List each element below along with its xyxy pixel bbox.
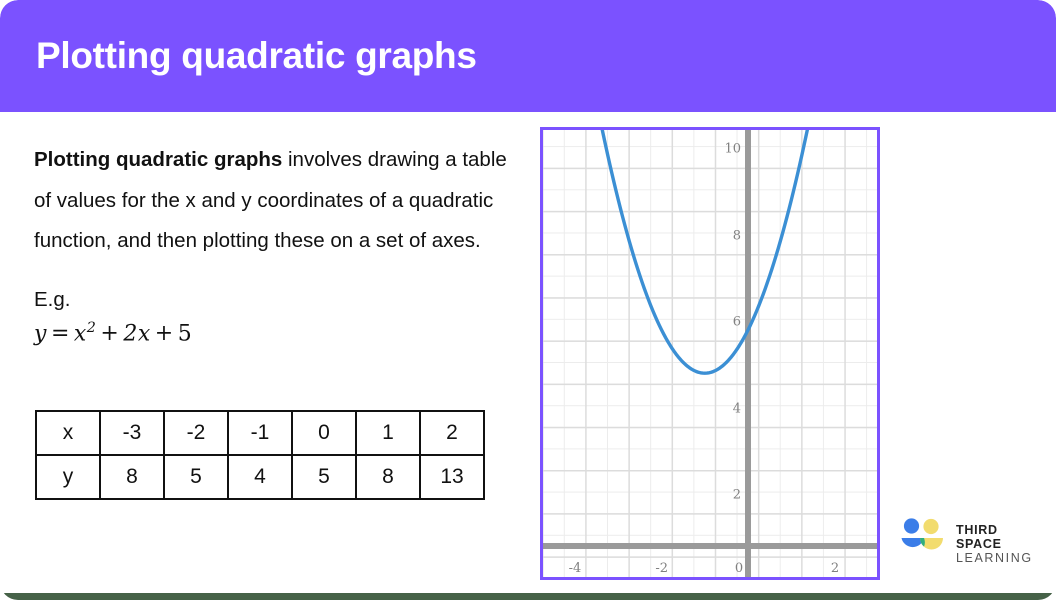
logo-line-2: LEARNING xyxy=(956,551,1033,566)
row-header-y: y xyxy=(36,455,100,499)
equation-term3: 5 xyxy=(178,321,193,346)
equation-term2: 2x xyxy=(123,321,150,346)
logo-mark-icon xyxy=(898,516,948,556)
y-tick-label-10: 10 xyxy=(724,143,741,156)
page-title: Plotting quadratic graphs xyxy=(36,35,477,77)
intro-bold-lead: Plotting quadratic graphs xyxy=(34,148,282,171)
third-space-learning-logo: THIRD SPACE LEARNING xyxy=(898,514,1023,558)
cell-x-5: 2 xyxy=(420,411,484,455)
slide-header: Plotting quadratic graphs xyxy=(0,0,1056,112)
graph-plot-area: 10 8 6 4 2 -4 -2 0 2 xyxy=(543,130,877,577)
x-tick-label-minus2: -2 xyxy=(655,562,668,575)
cell-y-5: 13 xyxy=(420,455,484,499)
cell-x-0: -3 xyxy=(100,411,164,455)
equation-term1-base: x xyxy=(74,321,87,346)
table-of-values: x -3 -2 -1 0 1 2 y 8 5 4 5 8 13 xyxy=(35,410,485,500)
x-tick-label-minus4: -4 xyxy=(569,562,582,575)
equation-plus-1: + xyxy=(96,321,123,346)
logo-line-1: THIRD SPACE xyxy=(956,523,1033,551)
slide-root: Plotting quadratic graphs Plotting quadr… xyxy=(0,0,1056,600)
example-label: E.g. xyxy=(34,286,524,314)
cell-y-2: 4 xyxy=(228,455,292,499)
cell-x-4: 1 xyxy=(356,411,420,455)
x-tick-label-0: 0 xyxy=(735,562,743,575)
x-tick-label-2: 2 xyxy=(831,562,839,575)
table-row: y 8 5 4 5 8 13 xyxy=(36,455,484,499)
y-tick-label-8: 8 xyxy=(733,229,741,242)
equation-plus-2: + xyxy=(151,321,178,346)
equation-term1-exponent: 2 xyxy=(87,320,97,336)
bottom-accent-bar xyxy=(0,593,1056,600)
equation-lhs: y xyxy=(34,321,47,346)
equation-equals: = xyxy=(47,321,74,346)
parabola-curve xyxy=(543,130,877,577)
cell-y-0: 8 xyxy=(100,455,164,499)
row-header-x: x xyxy=(36,411,100,455)
intro-paragraph: Plotting quadratic graphs involves drawi… xyxy=(34,140,526,262)
cell-x-3: 0 xyxy=(292,411,356,455)
cell-x-1: -2 xyxy=(164,411,228,455)
y-tick-label-2: 2 xyxy=(733,488,741,501)
quadratic-equation: y=x2+2x+5 xyxy=(34,320,524,346)
y-tick-label-4: 4 xyxy=(733,402,741,415)
cell-x-2: -1 xyxy=(228,411,292,455)
cell-y-3: 5 xyxy=(292,455,356,499)
table-row: x -3 -2 -1 0 1 2 xyxy=(36,411,484,455)
left-content-column: Plotting quadratic graphs involves drawi… xyxy=(34,140,524,346)
quadratic-graph: 10 8 6 4 2 -4 -2 0 2 xyxy=(540,127,880,580)
cell-y-4: 8 xyxy=(356,455,420,499)
logo-wordmark: THIRD SPACE LEARNING xyxy=(956,523,1033,566)
cell-y-1: 5 xyxy=(164,455,228,499)
y-tick-label-6: 6 xyxy=(733,316,741,329)
